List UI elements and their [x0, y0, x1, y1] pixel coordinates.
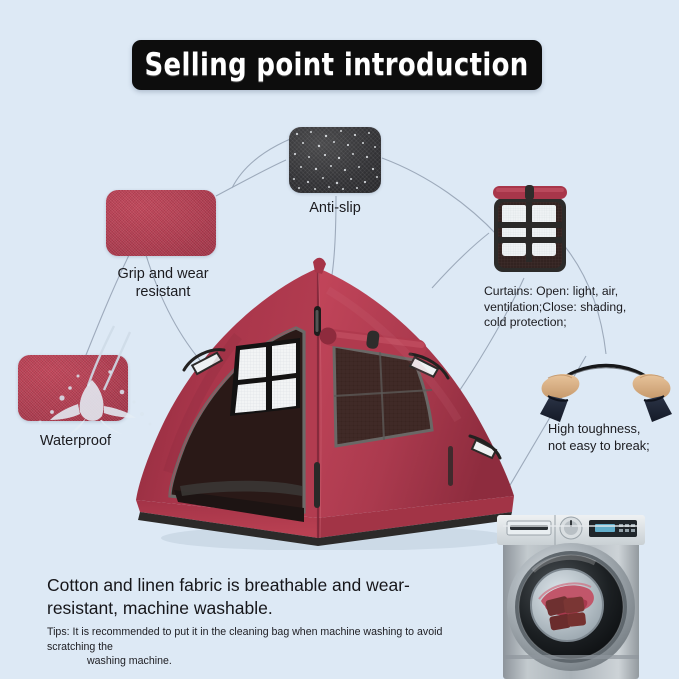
label-curtains-line3: cold protection;: [484, 315, 567, 329]
swatch-grip-and-wear: [106, 190, 216, 256]
label-toughness-line2: not easy to break;: [548, 438, 650, 453]
hands-bending-pole-image: [534, 352, 678, 424]
footer-tips: Tips: It is recommended to put it in the…: [47, 625, 487, 669]
footer-tips-line1: Tips: It is recommended to put it in the…: [47, 626, 442, 653]
speckle-texture-icon: [289, 127, 381, 193]
footer-tips-line2: washing machine.: [47, 654, 487, 669]
footer-headline: Cotton and linen fabric is breathable an…: [47, 574, 477, 621]
infographic-canvas: Selling point introduction: [0, 0, 679, 679]
page-title-banner: Selling point introduction: [132, 40, 542, 90]
label-grip-line2: resistant: [136, 284, 191, 300]
label-toughness-line1: High toughness,: [548, 421, 640, 436]
label-curtains-line1: Curtains: Open: light, air,: [484, 284, 618, 298]
label-curtains: Curtains: Open: light, air, ventilation;…: [484, 284, 636, 331]
swatch-curtains: [489, 184, 571, 276]
label-grip-and-wear: Grip and wear resistant: [93, 266, 233, 301]
label-anti-slip: Anti-slip: [289, 200, 381, 218]
label-high-toughness: High toughness, not easy to break;: [548, 421, 678, 454]
page-title: Selling point introduction: [145, 47, 529, 83]
footer-headline-line2: machine washable.: [123, 598, 273, 618]
swatch-anti-slip: [289, 127, 381, 193]
swatch-waterproof: [18, 355, 128, 421]
label-waterproof: Waterproof: [18, 433, 133, 451]
label-grip-line1: Grip and wear: [117, 266, 208, 282]
label-curtains-line2: ventilation;Close: shading,: [484, 300, 626, 314]
washing-machine-image: [489, 509, 652, 679]
